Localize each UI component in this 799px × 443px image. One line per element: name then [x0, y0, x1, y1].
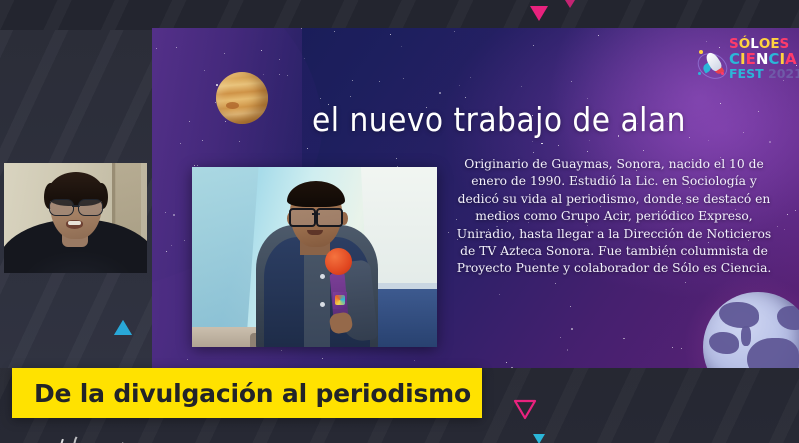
participant-webcam-tile[interactable]	[0, 30, 152, 368]
screen-root: el nuevo trabajo de alan	[0, 0, 799, 443]
pink-triangle-outline-icon	[513, 399, 537, 420]
pink-triangle-icon	[530, 6, 548, 21]
lower-third-text: De la divulgación al periodismo	[34, 379, 471, 408]
slide-paragraph: Originario de Guaymas, Sonora, nacido el…	[452, 156, 776, 278]
cyan-triangle-small-icon	[533, 434, 545, 443]
slide-title: el nuevo trabajo de alan	[312, 100, 790, 139]
glasses-icon	[49, 199, 103, 214]
reporter-photo	[192, 167, 437, 347]
pink-triangle-small-icon	[565, 0, 575, 8]
logo-line-3: FEST 2021	[729, 68, 799, 81]
presentation-slide[interactable]: el nuevo trabajo de alan	[152, 28, 799, 368]
logo-line-2: CIENCIA	[729, 52, 797, 67]
cyan-triangle-icon	[114, 320, 132, 335]
jupiter-planet-icon	[216, 72, 268, 124]
festival-logo: SÓLO ES CIENCIA FEST 2021	[695, 32, 791, 88]
glasses-icon	[289, 208, 343, 223]
lower-third-banner: De la divulgación al periodismo	[12, 368, 482, 418]
rocket-icon	[697, 48, 727, 78]
webcam-video-feed	[4, 163, 147, 273]
